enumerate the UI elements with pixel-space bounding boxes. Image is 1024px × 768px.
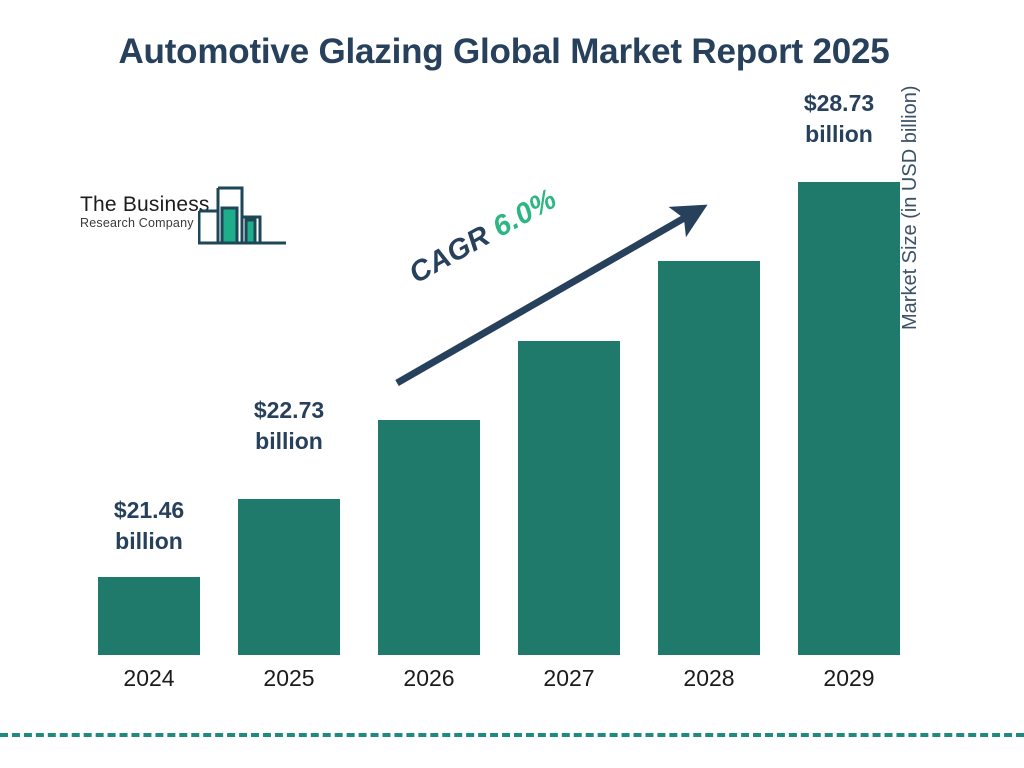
x-tick-label-2029: 2029 [789, 665, 909, 692]
x-tick-label-2028: 2028 [649, 665, 769, 692]
cagr-label-prefix: CAGR [404, 216, 503, 290]
bar-2029 [798, 182, 900, 655]
cagr-label-value: 6.0% [487, 183, 562, 244]
bar-2026 [378, 420, 480, 655]
x-tick-label-2025: 2025 [229, 665, 349, 692]
cagr-annotation: CAGR 6.0% [404, 183, 563, 291]
bar-2025 [238, 499, 340, 655]
logo-line-2: Research Company [80, 216, 216, 231]
page-title: Automotive Glazing Global Market Report … [96, 30, 912, 75]
x-tick-label-2027: 2027 [509, 665, 629, 692]
y-axis-title: Market Size (in USD billion) [899, 0, 922, 330]
bar-value-label-2029: $28.73 billion [779, 88, 899, 150]
bar-chart-logo-mark [198, 176, 288, 248]
logo-line-1: The Business [80, 193, 216, 216]
bottom-divider [0, 733, 1024, 737]
x-tick-label-2026: 2026 [369, 665, 489, 692]
bar-value-label-2024: $21.46 billion [89, 495, 209, 557]
bar-2027 [518, 341, 620, 655]
bar-value-label-2025: $22.73 billion [229, 395, 349, 457]
x-tick-label-2024: 2024 [89, 665, 209, 692]
market-report-chart: Automotive Glazing Global Market Report … [0, 0, 1024, 768]
logo-wordmark: The Business Research Company [80, 193, 216, 231]
company-logo: The Business Research Company [74, 176, 286, 248]
bar-2024 [98, 577, 200, 655]
bar-2028 [658, 261, 760, 655]
